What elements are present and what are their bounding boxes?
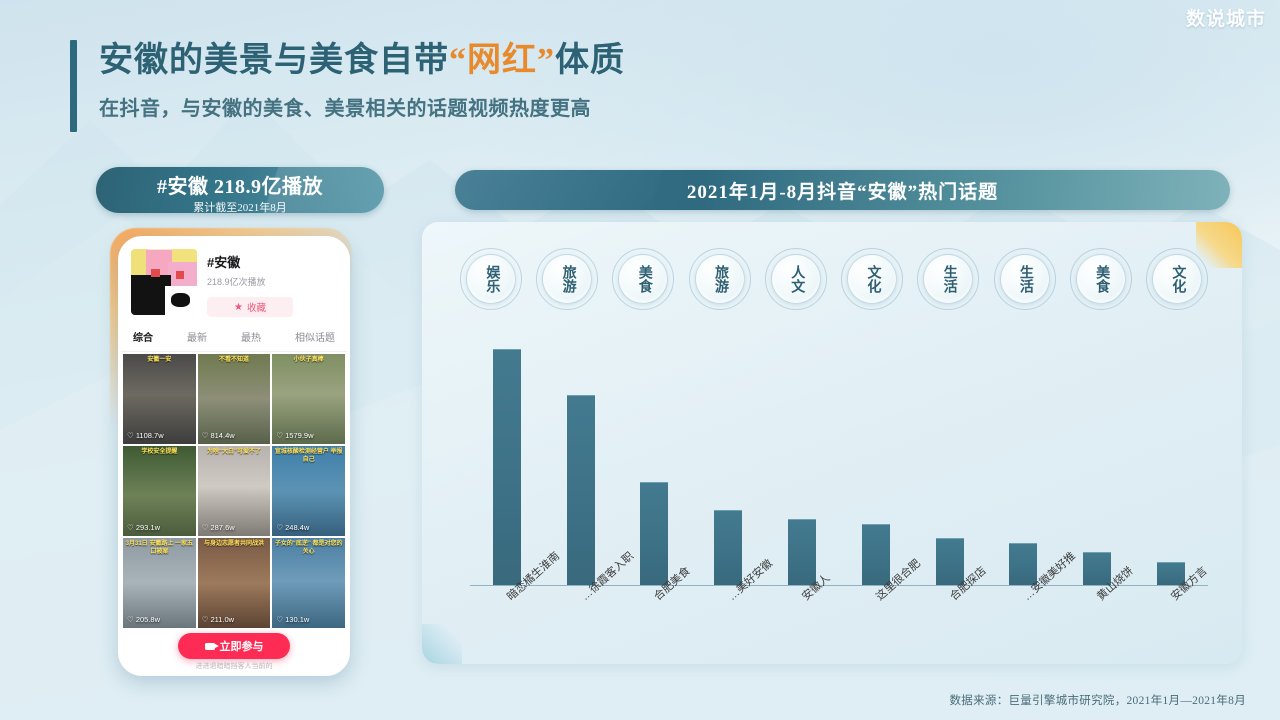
bar-slot — [913, 340, 987, 585]
video-thumbnail[interactable]: 3月31日 安徽路上 一家五口被案♡ 205.8w — [123, 538, 196, 628]
category-badge-disc: 美食 — [618, 254, 668, 304]
category-badge-label: 旅游 — [560, 265, 575, 293]
camera-icon — [205, 643, 215, 650]
category-badge: 人文 — [765, 248, 827, 310]
video-grid: 安徽一安♡ 1108.7w不看不知道♡ 814.4w小伙子真棒♡ 1579.9w… — [121, 352, 347, 673]
bar[interactable] — [714, 510, 742, 585]
page-title: 安徽的美景与美食自带“网红”体质 — [99, 40, 625, 83]
video-like-count: ♡ 814.4w — [202, 431, 235, 440]
chart-panel-header: 2021年1月-8月抖音“安徽”热门话题 — [455, 170, 1230, 210]
x-label-slot: 美好安徽… — [691, 588, 765, 658]
heart-icon: ♡ — [127, 615, 136, 624]
bar-slot — [618, 340, 692, 585]
phone-tab-3[interactable]: 相似话题 — [295, 329, 335, 344]
category-badge-disc: 文化 — [1152, 254, 1202, 304]
video-thumbnail[interactable]: 宣城核酸检测经营户 举报自己♡ 248.4w — [272, 446, 345, 536]
data-source-note: 数据来源：巨量引擎城市研究院，2021年1月—2021年8月 — [950, 692, 1247, 708]
phone-tab-1[interactable]: 最新 — [187, 329, 207, 344]
category-badge: 美食 — [612, 248, 674, 310]
category-badge-disc: 人文 — [771, 254, 821, 304]
x-label-slot: 安徽人 — [765, 588, 839, 658]
video-thumbnail[interactable]: 安徽一安♡ 1108.7w — [123, 354, 196, 444]
category-badge-row: 娱乐旅游美食旅游人文文化生活生活美食文化 — [460, 240, 1208, 318]
video-like-count: ♡ 205.8w — [127, 615, 160, 624]
video-like-count: ♡ 1108.7w — [127, 431, 164, 440]
bar[interactable] — [493, 349, 521, 585]
heart-icon: ♡ — [127, 523, 136, 532]
heart-icon: ♡ — [127, 431, 136, 440]
video-thumbnail[interactable]: 不看不知道♡ 814.4w — [198, 354, 271, 444]
x-label-slot: 合肥美食 — [618, 588, 692, 658]
bar-slot — [1060, 340, 1134, 585]
video-like-value: 293.1w — [136, 523, 160, 532]
video-caption: 为啥“大白”可爱不了 — [200, 449, 269, 457]
category-badge-label: 美食 — [1093, 265, 1108, 293]
category-badge-disc: 娱乐 — [466, 254, 516, 304]
category-badge-label: 生活 — [1017, 265, 1032, 293]
favorite-button-label: 收藏 — [247, 300, 266, 314]
video-like-value: 205.8w — [136, 615, 160, 624]
join-now-label: 立即参与 — [220, 638, 264, 654]
topic-stat-main: #安徽 218.9亿播放 — [96, 170, 384, 199]
page-subtitle: 在抖音，与安徽的美食、美景相关的话题视频热度更高 — [99, 92, 625, 121]
x-label-slot: 徐霞客入职… — [544, 588, 618, 658]
page-title-accent: “网红” — [449, 42, 555, 79]
bar-slot — [691, 340, 765, 585]
bar-slot — [987, 340, 1061, 585]
video-like-value: 130.1w — [285, 615, 309, 624]
phone-screen: #安徽 218.9亿次播放 ★ 收藏 综合最新最热相似话题 安徽一安♡ 1108… — [121, 239, 347, 673]
category-badge-disc: 生活 — [1000, 254, 1050, 304]
category-badge-disc: 文化 — [847, 254, 897, 304]
bar[interactable] — [862, 524, 890, 585]
video-like-count: ♡ 287.6w — [202, 523, 235, 532]
category-badge: 美食 — [1070, 248, 1132, 310]
star-icon: ★ — [234, 302, 243, 313]
category-badge-label: 文化 — [1170, 265, 1185, 293]
category-badge-label: 人文 — [789, 265, 804, 293]
video-like-count: ♡ 130.1w — [276, 615, 309, 624]
title-block: 安徽的美景与美食自带“网红”体质 在抖音，与安徽的美食、美景相关的话题视频热度更… — [70, 38, 625, 132]
video-like-count: ♡ 1579.9w — [276, 431, 313, 440]
category-badge-disc: 美食 — [1076, 254, 1126, 304]
video-thumbnail[interactable]: 学校安全提醒♡ 293.1w — [123, 446, 196, 536]
video-caption: 安徽一安 — [125, 357, 194, 365]
join-now-button[interactable]: 立即参与 — [178, 633, 290, 659]
video-caption: 与身边志愿者共同战洪 — [200, 541, 269, 549]
video-like-value: 211.0w — [210, 615, 234, 624]
bar-slot — [470, 340, 544, 585]
brand-logo: 数说城市 — [1186, 4, 1266, 31]
heart-icon: ♡ — [276, 523, 285, 532]
video-thumbnail[interactable]: 小伙子真棒♡ 1579.9w — [272, 354, 345, 444]
video-like-value: 248.4w — [285, 523, 309, 532]
x-label-slot: 合肥探店 — [913, 588, 987, 658]
category-badge: 文化 — [841, 248, 903, 310]
bar-slot — [1134, 340, 1208, 585]
phone-tab-0[interactable]: 综合 — [133, 329, 153, 344]
video-caption: 3月31日 安徽路上 一家五口被案 — [125, 541, 194, 556]
bar[interactable] — [640, 482, 668, 585]
bar[interactable] — [936, 538, 964, 585]
x-axis-line — [470, 585, 1208, 586]
video-like-count: ♡ 293.1w — [127, 523, 160, 532]
page-title-main: 安徽的美景与美食自带 — [99, 42, 449, 79]
category-badge-label: 文化 — [865, 265, 880, 293]
video-like-value: 1579.9w — [285, 431, 313, 440]
video-like-value: 287.6w — [210, 523, 234, 532]
category-badge: 生活 — [917, 248, 979, 310]
video-caption: 子女的“底逆” 都是对您的关心 — [274, 541, 343, 556]
x-label-slot: 安徽方言 — [1134, 588, 1208, 658]
phone-bottom-hint: 进进退暗暗挡客人当前的 — [121, 661, 347, 671]
bar-slot — [544, 340, 618, 585]
video-like-count: ♡ 211.0w — [202, 615, 234, 624]
x-label-slot: 这里很合肥 — [839, 588, 913, 658]
category-badge: 生活 — [994, 248, 1056, 310]
phone-tab-bar: 综合最新最热相似话题 — [121, 323, 347, 352]
category-badge: 旅游 — [536, 248, 598, 310]
phone-topic-name: #安徽 — [207, 252, 337, 271]
category-badge-label: 生活 — [941, 265, 956, 293]
category-badge-label: 美食 — [636, 265, 651, 293]
category-badge-label: 娱乐 — [484, 265, 499, 293]
category-badge: 文化 — [1146, 248, 1208, 310]
favorite-button[interactable]: ★ 收藏 — [207, 297, 293, 317]
page-title-tail: 体质 — [555, 42, 625, 79]
x-axis-labels: 暗恋橘生淮南徐霞客入职…合肥美食美好安徽…安徽人这里很合肥合肥探店安徽美好推…黄… — [470, 588, 1208, 658]
bar[interactable] — [567, 395, 595, 585]
category-badge-disc: 旅游 — [542, 254, 592, 304]
x-label-slot: 黄山烧饼 — [1060, 588, 1134, 658]
phone-tab-2[interactable]: 最热 — [241, 329, 261, 344]
phone-topic-header: #安徽 218.9亿次播放 ★ 收藏 — [121, 239, 347, 323]
video-caption: 小伙子真棒 — [274, 357, 343, 365]
phone-play-count: 218.9亿次播放 — [207, 275, 337, 288]
category-badge: 娱乐 — [460, 248, 522, 310]
category-badge-disc: 生活 — [923, 254, 973, 304]
video-thumbnail[interactable]: 与身边志愿者共同战洪♡ 211.0w — [198, 538, 271, 628]
phone-mockup: #安徽 218.9亿次播放 ★ 收藏 综合最新最热相似话题 安徽一安♡ 1108… — [118, 236, 350, 676]
bar-chart-plot — [470, 340, 1208, 586]
category-badge: 旅游 — [689, 248, 751, 310]
bar[interactable] — [788, 519, 816, 585]
heart-icon: ♡ — [276, 431, 285, 440]
chart-panel: 娱乐旅游美食旅游人文文化生活生活美食文化 暗恋橘生淮南徐霞客入职…合肥美食美好安… — [422, 222, 1242, 664]
topic-stat-badge: #安徽 218.9亿播放 累计截至2021年8月 — [96, 167, 384, 213]
video-like-value: 1108.7w — [136, 431, 164, 440]
video-like-count: ♡ 248.4w — [276, 523, 309, 532]
anhui-map-thumbnail — [131, 249, 197, 315]
bar-slot — [839, 340, 913, 585]
x-label-slot: 暗恋橘生淮南 — [470, 588, 544, 658]
panel-corner-accent-bottom-left — [422, 624, 462, 664]
video-caption: 不看不知道 — [200, 357, 269, 365]
title-accent-bar — [70, 40, 77, 132]
category-badge-label: 旅游 — [712, 265, 727, 293]
video-caption: 学校安全提醒 — [125, 449, 194, 457]
video-like-value: 814.4w — [210, 431, 234, 440]
topic-stat-sub: 累计截至2021年8月 — [96, 199, 384, 213]
video-thumbnail[interactable]: 子女的“底逆” 都是对您的关心♡ 130.1w — [272, 538, 345, 628]
bar-slot — [765, 340, 839, 585]
x-label-slot: 安徽美好推… — [987, 588, 1061, 658]
heart-icon: ♡ — [276, 615, 285, 624]
video-caption: 宣城核酸检测经营户 举报自己 — [274, 449, 343, 464]
video-thumbnail[interactable]: 为啥“大白”可爱不了♡ 287.6w — [198, 446, 271, 536]
bar-series — [470, 340, 1208, 585]
category-badge-disc: 旅游 — [695, 254, 745, 304]
